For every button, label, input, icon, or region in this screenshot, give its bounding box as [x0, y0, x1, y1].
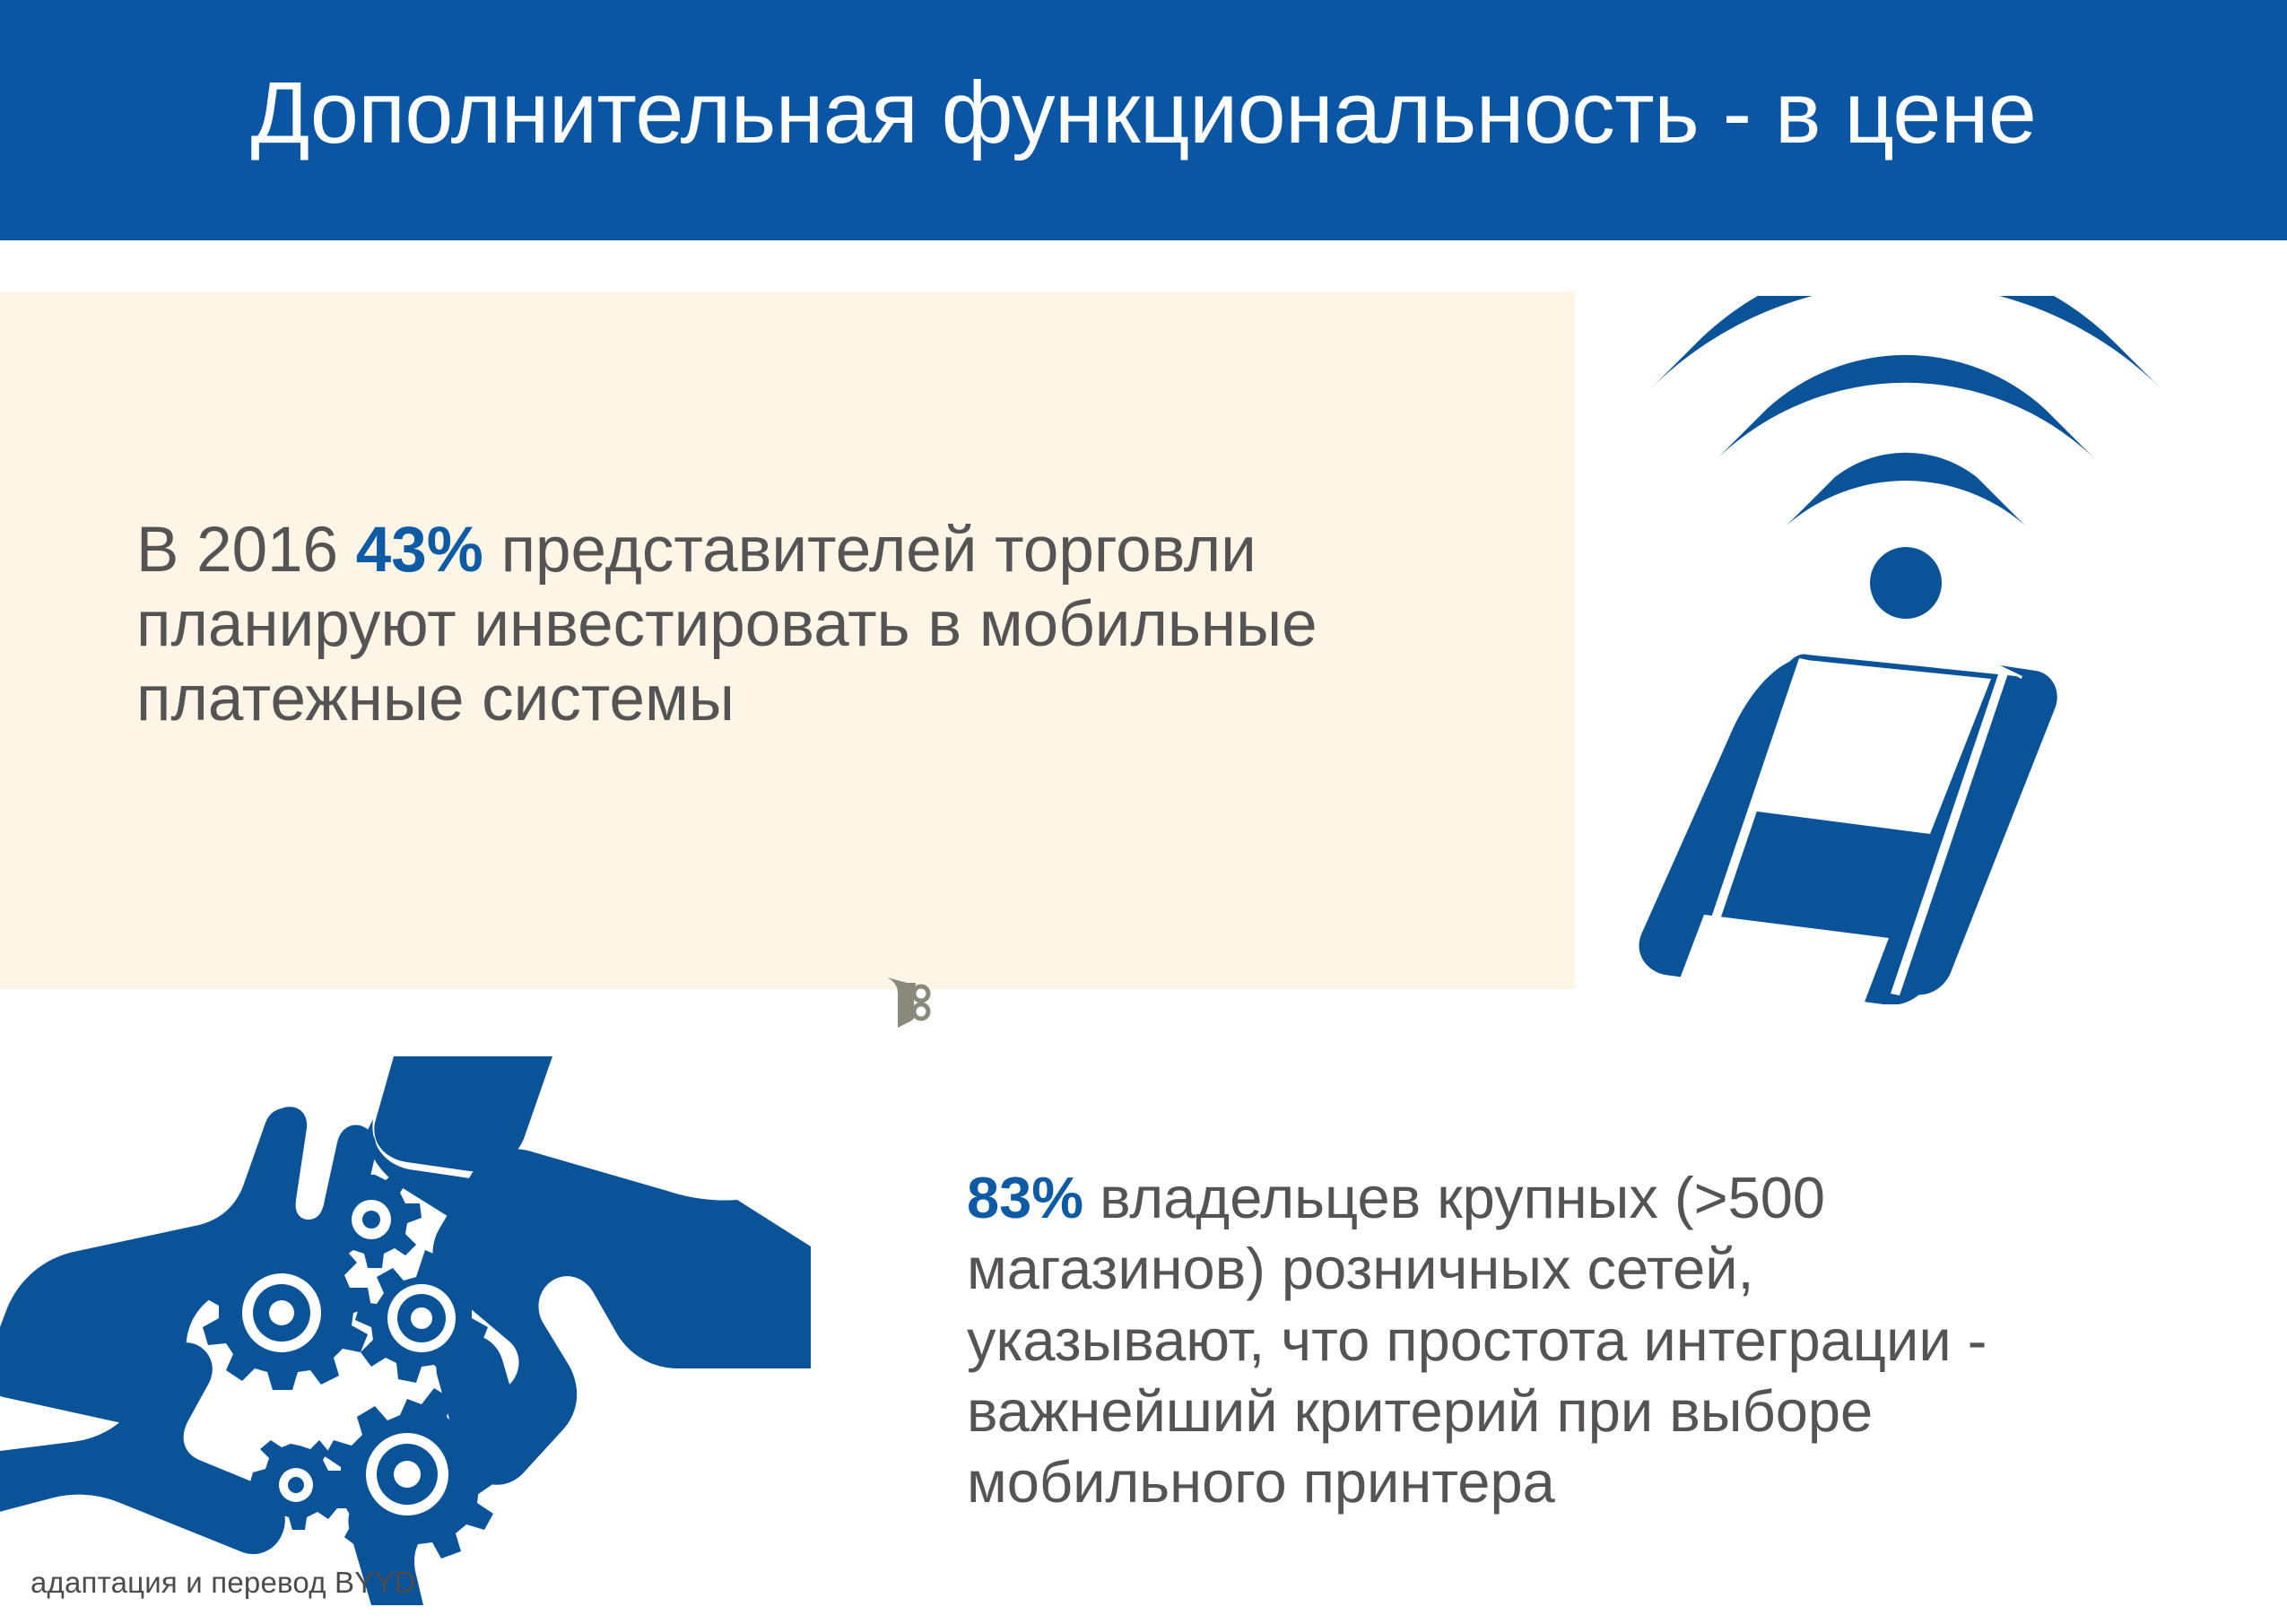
- infographic-poster: Дополнительная функциональность - в цене…: [0, 0, 2287, 1624]
- stat-suffix-2: владельцев крупных (>500 магазинов) розн…: [967, 1165, 1987, 1515]
- wifi-mobile-printer-icon: [1614, 296, 2242, 1004]
- hands-with-gears-icon: [0, 1056, 811, 1605]
- stat-prefix: В 2016: [136, 515, 356, 586]
- stat-value-43: 43%: [356, 515, 483, 586]
- page-title: Дополнительная функциональность - в цене: [0, 0, 2287, 240]
- stat-value-83: 83%: [967, 1165, 1083, 1230]
- price-tag-fragment-icon: [883, 976, 946, 1037]
- credit-line: адаптация и перевод BYYD: [30, 1566, 416, 1600]
- stat-block-mobile-payments: В 2016 43% представителей торговли плани…: [136, 513, 1500, 736]
- stat-block-integration: 83% владельцев крупных (>500 магазинов) …: [967, 1162, 2025, 1517]
